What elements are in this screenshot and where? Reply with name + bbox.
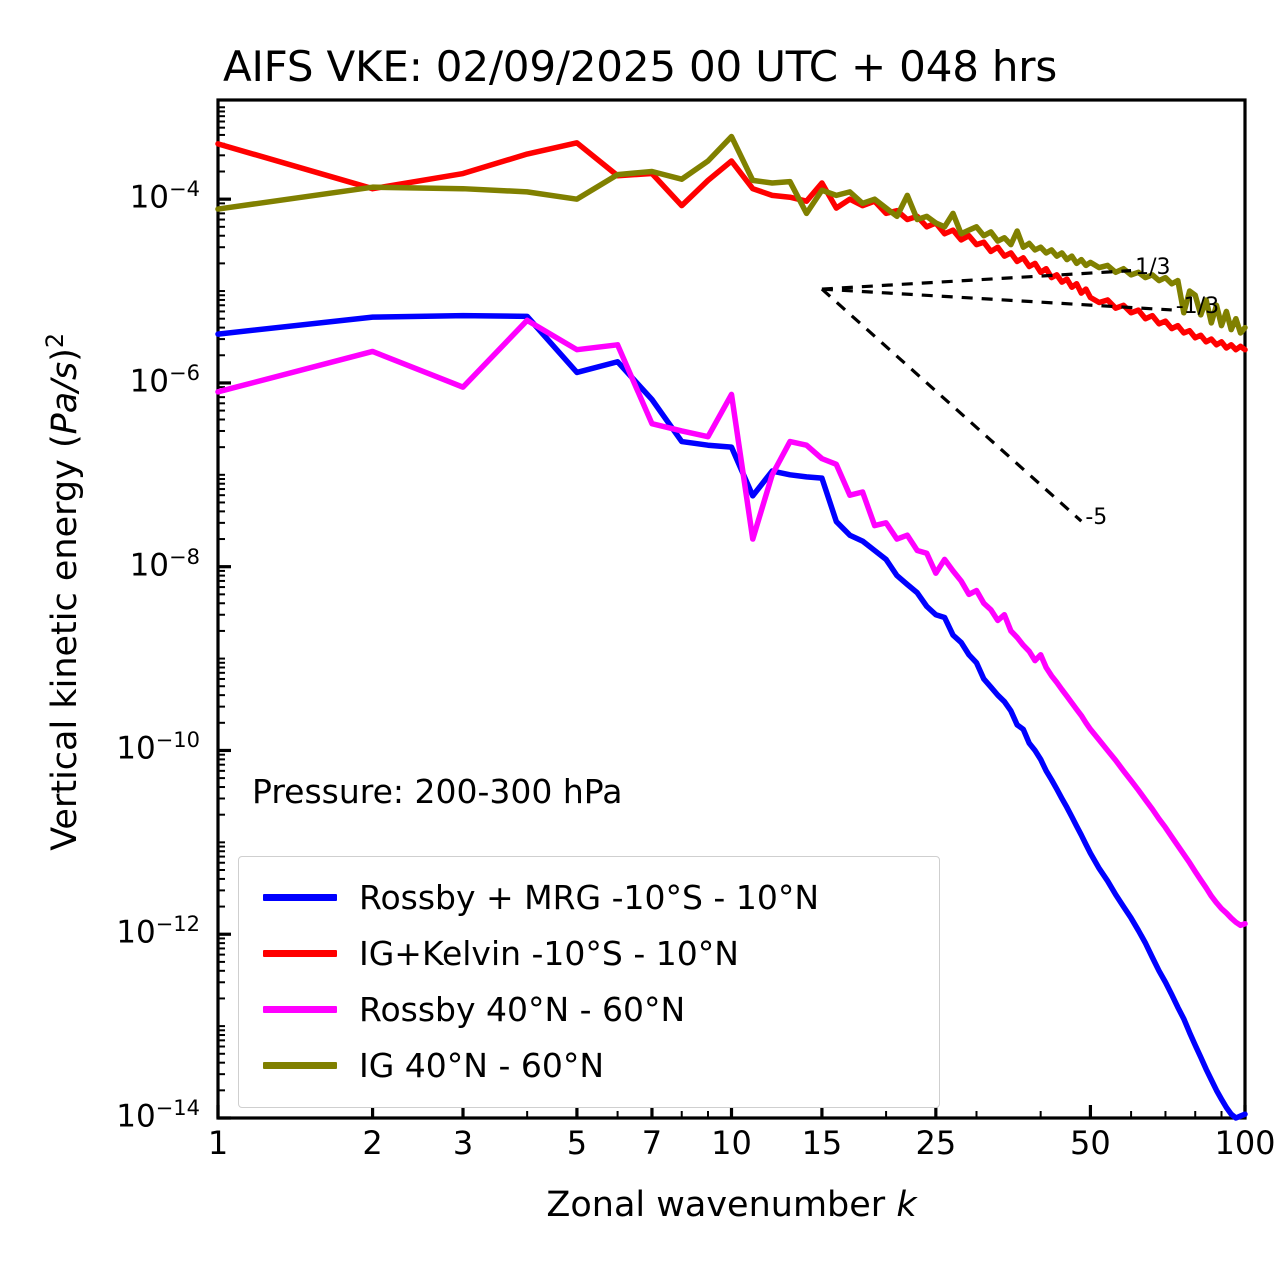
series-line — [218, 137, 1245, 333]
x-tick-label: 25 — [876, 1124, 996, 1162]
legend-item[interactable]: IG+Kelvin -10°S - 10°N — [239, 925, 939, 981]
legend-swatch-ig-kelvin — [263, 950, 337, 957]
legend-label-rossby-mrg: Rossby + MRG -10°S - 10°N — [359, 878, 819, 917]
x-tick-label: 100 — [1185, 1124, 1280, 1162]
legend-label-ig-nh: IG 40°N - 60°N — [359, 1046, 604, 1085]
legend-item[interactable]: Rossby + MRG -10°S - 10°N — [239, 869, 939, 925]
x-tick-label: 15 — [762, 1124, 882, 1162]
legend-swatch-rossby-mrg — [263, 894, 337, 901]
legend-item[interactable]: IG 40°N - 60°N — [239, 1037, 939, 1093]
x-tick-label: 1 — [158, 1124, 278, 1162]
x-tick-label: 3 — [403, 1124, 523, 1162]
slope-label: 1/3 — [1135, 255, 1170, 280]
legend-item[interactable]: Rossby 40°N - 60°N — [239, 981, 939, 1037]
reference-slope-line — [822, 289, 1081, 521]
figure-canvas: AIFS VKE: 02/09/2025 00 UTC + 048 hrs Ve… — [0, 0, 1280, 1288]
legend-swatch-ig-nh — [263, 1062, 337, 1069]
legend-label-rossby-nh: Rossby 40°N - 60°N — [359, 990, 685, 1029]
series-line — [218, 320, 1245, 925]
slope-label: -5 — [1085, 505, 1107, 530]
reference-slope-line — [822, 271, 1131, 289]
y-tick-label: 10−6 — [40, 361, 200, 399]
x-tick-label: 50 — [1030, 1124, 1150, 1162]
y-tick-label: 10−12 — [40, 912, 200, 950]
y-tick-label: 10−4 — [40, 177, 200, 215]
y-tick-label: 10−8 — [40, 545, 200, 583]
legend-box: Rossby + MRG -10°S - 10°N IG+Kelvin -10°… — [238, 856, 940, 1108]
y-tick-label: 10−10 — [40, 728, 200, 766]
legend-label-ig-kelvin: IG+Kelvin -10°S - 10°N — [359, 934, 739, 973]
slope-label: -1/3 — [1176, 294, 1219, 319]
legend-swatch-rossby-nh — [263, 1006, 337, 1013]
pressure-annotation: Pressure: 200-300 hPa — [252, 772, 622, 811]
